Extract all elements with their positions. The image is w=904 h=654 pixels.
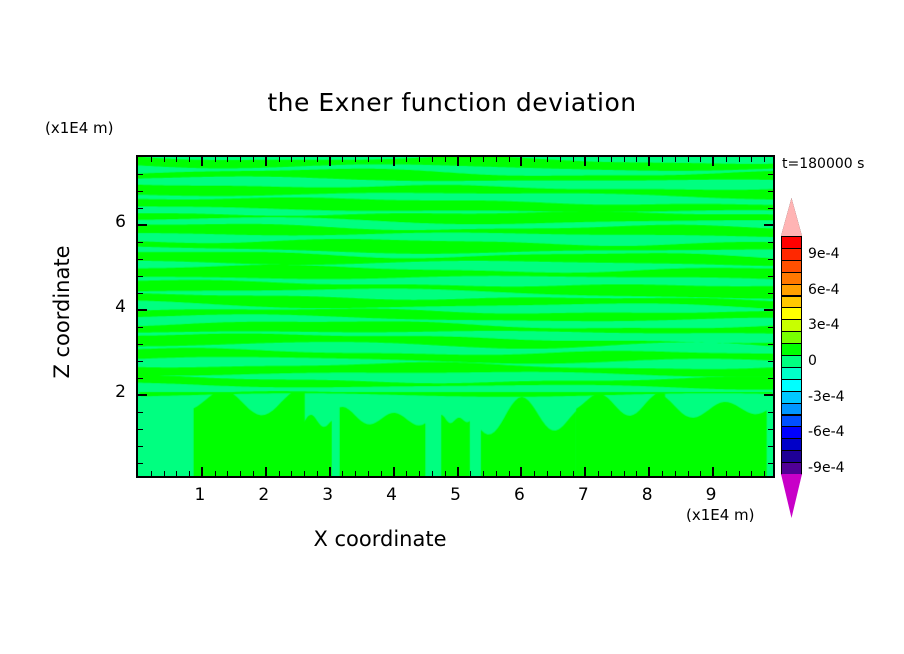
y-tick-minor-right [768, 174, 773, 175]
y-axis-title: Z coordinate [50, 212, 74, 412]
x-tick-minor-top [751, 157, 752, 162]
x-tick-minor-top [164, 157, 165, 162]
x-tick-minor [355, 471, 356, 476]
x-tick-minor [509, 471, 510, 476]
y-tick-minor-right [768, 208, 773, 209]
x-tick-major-top [584, 157, 586, 166]
x-tick-minor [764, 471, 765, 476]
x-tick-minor [240, 471, 241, 476]
colorbar-over-arrow [781, 198, 802, 236]
x-tick-minor-top [240, 157, 241, 162]
x-tick-minor-top [700, 157, 701, 162]
x-tick-minor [534, 471, 535, 476]
x-tick-minor-top [368, 157, 369, 162]
x-axis-title: X coordinate [0, 527, 760, 551]
x-tick-major [265, 467, 267, 476]
colorbar-tick-label: 6e-4 [808, 282, 839, 298]
y-tick-minor-right [768, 361, 773, 362]
y-tick-minor-right [768, 446, 773, 447]
x-tick-minor [406, 471, 407, 476]
x-tick-minor-top [662, 157, 663, 162]
x-tick-label: 7 [568, 485, 598, 505]
x-tick-label: 4 [377, 485, 407, 505]
x-axis-unit-label: (x1E4 m) [686, 506, 755, 524]
x-tick-minor [726, 471, 727, 476]
y-tick-minor [138, 259, 143, 260]
x-tick-minor-top [509, 157, 510, 162]
y-tick-minor [138, 378, 143, 379]
x-tick-minor [176, 471, 177, 476]
x-tick-minor [279, 471, 280, 476]
x-tick-minor-top [215, 157, 216, 162]
x-tick-major-top [265, 157, 267, 166]
x-tick-major [648, 467, 650, 476]
x-tick-major-top [520, 157, 522, 166]
x-tick-minor [598, 471, 599, 476]
x-tick-minor-top [573, 157, 574, 162]
x-tick-minor-top [636, 157, 637, 162]
x-tick-minor [368, 471, 369, 476]
colorbar-tick-label: 3e-4 [808, 317, 839, 333]
y-axis-unit-label: (x1E4 m) [45, 119, 114, 137]
y-tick-minor-right [768, 412, 773, 413]
y-tick-minor [138, 446, 143, 447]
x-tick-major-top [393, 157, 395, 166]
y-tick-label: 4 [96, 297, 126, 317]
x-tick-major-top [457, 157, 459, 166]
y-tick-minor [138, 412, 143, 413]
x-tick-minor [700, 471, 701, 476]
x-tick-minor [432, 471, 433, 476]
x-tick-major-top [201, 157, 203, 166]
x-tick-major-top [648, 157, 650, 166]
x-tick-minor [688, 471, 689, 476]
x-tick-minor-top [624, 157, 625, 162]
x-tick-minor [739, 471, 740, 476]
contour-field-canvas [138, 157, 773, 476]
x-tick-minor [483, 471, 484, 476]
x-tick-minor-top [547, 157, 548, 162]
x-tick-minor [215, 471, 216, 476]
x-tick-minor [304, 471, 305, 476]
x-tick-minor-top [611, 157, 612, 162]
y-tick-major-right [764, 224, 773, 226]
x-tick-minor-top [675, 157, 676, 162]
page-title: the Exner function deviation [0, 88, 904, 117]
x-tick-major [712, 467, 714, 476]
y-tick-minor-right [768, 463, 773, 464]
x-tick-minor-top [598, 157, 599, 162]
y-tick-minor [138, 174, 143, 175]
x-tick-major [584, 467, 586, 476]
y-tick-minor-right [768, 327, 773, 328]
y-tick-minor [138, 429, 143, 430]
x-tick-minor [151, 471, 152, 476]
colorbar-tick-label: -9e-4 [808, 460, 845, 476]
x-tick-minor-top [419, 157, 420, 162]
x-tick-minor-top [151, 157, 152, 162]
x-tick-minor [164, 471, 165, 476]
y-tick-minor [138, 463, 143, 464]
x-tick-minor [573, 471, 574, 476]
y-tick-major-right [764, 394, 773, 396]
x-tick-minor-top [406, 157, 407, 162]
x-tick-minor-top [176, 157, 177, 162]
x-tick-minor-top [304, 157, 305, 162]
x-tick-minor [419, 471, 420, 476]
y-tick-major [138, 224, 147, 226]
x-tick-label: 5 [441, 485, 471, 505]
y-tick-minor-right [768, 293, 773, 294]
x-tick-minor-top [227, 157, 228, 162]
y-tick-minor-right [768, 344, 773, 345]
y-tick-minor [138, 208, 143, 209]
x-tick-minor-top [381, 157, 382, 162]
x-tick-minor [624, 471, 625, 476]
x-tick-minor [317, 471, 318, 476]
x-tick-minor-top [279, 157, 280, 162]
x-tick-label: 9 [696, 485, 726, 505]
colorbar[interactable]: 9e-46e-43e-40-3e-4-6e-4-9e-4 [781, 236, 802, 474]
y-tick-major [138, 394, 147, 396]
x-tick-label: 1 [185, 485, 215, 505]
x-tick-minor-top [445, 157, 446, 162]
x-tick-label: 3 [313, 485, 343, 505]
colorbar-tick-label: -6e-4 [808, 424, 845, 440]
x-tick-minor [342, 471, 343, 476]
x-tick-minor-top [189, 157, 190, 162]
y-tick-minor [138, 327, 143, 328]
x-tick-minor [227, 471, 228, 476]
x-tick-minor-top [534, 157, 535, 162]
x-tick-label: 6 [504, 485, 534, 505]
x-tick-minor [470, 471, 471, 476]
x-tick-minor-top [432, 157, 433, 162]
y-tick-minor [138, 276, 143, 277]
x-tick-minor-top [291, 157, 292, 162]
x-tick-major [201, 467, 203, 476]
colorbar-under-arrow [781, 474, 802, 518]
y-tick-minor [138, 344, 143, 345]
x-tick-minor [291, 471, 292, 476]
x-tick-minor-top [688, 157, 689, 162]
y-tick-minor-right [768, 242, 773, 243]
x-tick-minor-top [739, 157, 740, 162]
contour-plot-area[interactable] [136, 155, 775, 478]
y-tick-minor [138, 293, 143, 294]
colorbar-tick-label: 0 [808, 353, 817, 369]
x-tick-major-top [329, 157, 331, 166]
y-tick-minor-right [768, 378, 773, 379]
x-tick-major [457, 467, 459, 476]
y-tick-minor-right [768, 276, 773, 277]
colorbar-tick-label: 9e-4 [808, 246, 839, 262]
x-tick-major [393, 467, 395, 476]
colorbar-tick-label: -3e-4 [808, 389, 845, 405]
x-tick-minor-top [726, 157, 727, 162]
x-tick-minor [445, 471, 446, 476]
x-tick-minor [636, 471, 637, 476]
x-tick-minor [189, 471, 190, 476]
y-tick-minor [138, 242, 143, 243]
x-tick-minor-top [496, 157, 497, 162]
x-tick-major-top [712, 157, 714, 166]
y-tick-minor [138, 361, 143, 362]
y-tick-minor-right [768, 429, 773, 430]
x-tick-minor-top [470, 157, 471, 162]
y-tick-minor-right [768, 191, 773, 192]
x-tick-minor [560, 471, 561, 476]
y-tick-label: 6 [96, 212, 126, 232]
y-tick-minor-right [768, 259, 773, 260]
x-tick-label: 8 [632, 485, 662, 505]
colorbar-band [781, 462, 802, 475]
x-tick-label: 2 [249, 485, 279, 505]
x-tick-minor-top [483, 157, 484, 162]
x-tick-minor [381, 471, 382, 476]
y-tick-minor [138, 191, 143, 192]
x-tick-minor-top [317, 157, 318, 162]
x-tick-minor-top [342, 157, 343, 162]
x-tick-minor [675, 471, 676, 476]
x-tick-major [520, 467, 522, 476]
x-tick-minor [662, 471, 663, 476]
x-tick-minor-top [764, 157, 765, 162]
x-tick-minor [253, 471, 254, 476]
x-tick-major [329, 467, 331, 476]
x-tick-minor [751, 471, 752, 476]
y-tick-label: 2 [96, 382, 126, 402]
y-tick-major [138, 309, 147, 311]
timestamp-label: t=180000 s [782, 156, 864, 172]
x-tick-minor [611, 471, 612, 476]
y-tick-major-right [764, 309, 773, 311]
x-tick-minor-top [253, 157, 254, 162]
x-tick-minor-top [560, 157, 561, 162]
x-tick-minor-top [355, 157, 356, 162]
x-tick-minor [547, 471, 548, 476]
x-tick-minor [496, 471, 497, 476]
